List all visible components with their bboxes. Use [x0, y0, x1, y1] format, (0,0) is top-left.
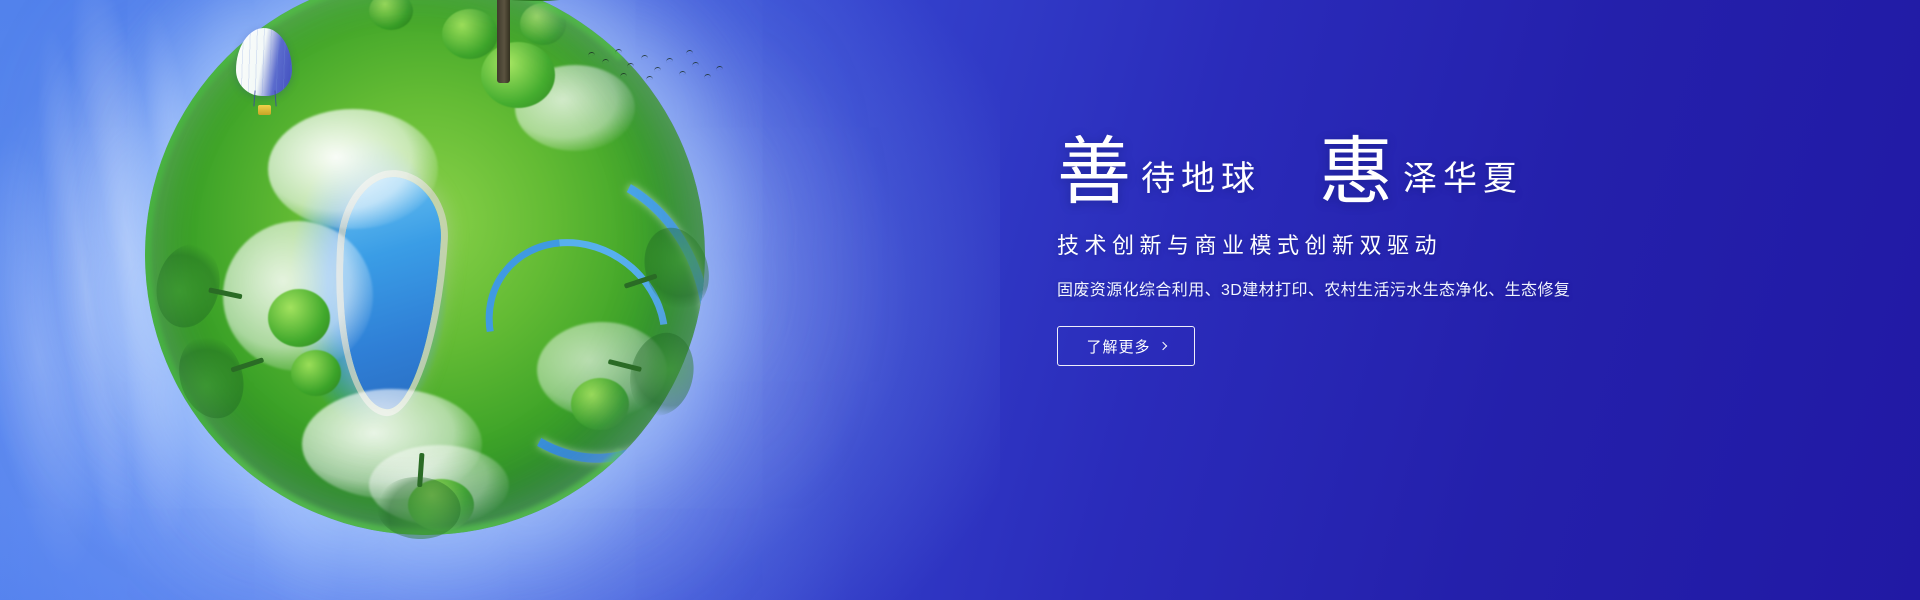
tree-crown — [435, 0, 625, 1]
bird-icon — [692, 62, 699, 67]
headline-phrase-1: 善 待地球 — [1057, 138, 1261, 206]
bird-icon — [641, 55, 648, 60]
bird-icon — [602, 59, 609, 64]
bird-icon — [620, 73, 627, 78]
bird-icon — [615, 49, 622, 54]
bird-icon — [588, 52, 595, 57]
flying-birds — [586, 46, 736, 92]
tree-trunk — [497, 0, 510, 83]
hero-subtitle: 技术创新与商业模式创新双驱动 — [1057, 228, 1817, 260]
headline-char-primary: 惠 — [1319, 138, 1393, 206]
bird-icon — [704, 74, 711, 79]
chevron-right-icon — [1158, 341, 1166, 349]
hero-banner: 善 待地球 惠 泽华夏 技术创新与商业模式创新双驱动 固废资源化综合利用、3D建… — [0, 0, 1920, 600]
headline-text-secondary: 泽华夏 — [1393, 162, 1523, 206]
bird-icon — [654, 67, 661, 72]
bird-icon — [686, 50, 693, 55]
learn-more-label: 了解更多 — [1086, 336, 1150, 357]
bird-icon — [679, 71, 686, 76]
headline-char-primary: 善 — [1057, 138, 1131, 206]
balloon-basket — [258, 105, 271, 115]
learn-more-button[interactable]: 了解更多 — [1057, 326, 1195, 366]
hero-headline: 善 待地球 惠 泽华夏 — [1057, 138, 1817, 206]
bird-icon — [666, 58, 673, 63]
hot-air-balloon — [236, 28, 296, 120]
bird-icon — [627, 63, 634, 68]
balloon-envelope — [236, 28, 292, 96]
headline-text-secondary: 待地球 — [1131, 162, 1261, 206]
bird-icon — [716, 66, 723, 71]
headline-phrase-2: 惠 泽华夏 — [1319, 138, 1523, 206]
balloon-ropes — [253, 90, 276, 106]
bird-icon — [646, 76, 653, 81]
hero-copy: 善 待地球 惠 泽华夏 技术创新与商业模式创新双驱动 固废资源化综合利用、3D建… — [1057, 138, 1817, 366]
hero-description: 固废资源化综合利用、3D建材打印、农村生活污水生态净化、生态修复 — [1057, 276, 1817, 300]
